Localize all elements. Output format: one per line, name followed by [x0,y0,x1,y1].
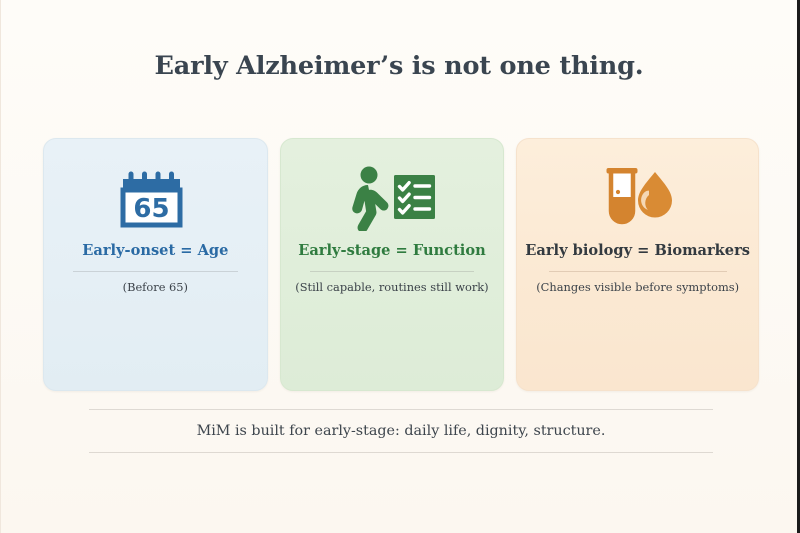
footer-banner: MiM is built for early-stage: daily life… [89,409,713,453]
card-divider [549,271,727,272]
card-early-onset[interactable]: 65 Early-onset = Age (Before 65) [43,138,268,391]
footer-rule-bottom [89,452,713,453]
card-early-stage[interactable]: Early-stage = Function (Still capable, r… [280,138,505,391]
concept-cards-row: 65 Early-onset = Age (Before 65) [43,138,759,391]
walking-person-checklist-icon [344,155,440,241]
card-subtext-early-onset: (Before 65) [116,281,195,295]
card-heading-early-biology: Early biology = Biomarkers [517,243,758,260]
card-heading-early-onset: Early-onset = Age [74,243,236,260]
calendar-year-text: 65 [134,194,170,224]
calendar-65-icon: 65 [118,155,192,241]
test-tube-droplet-icon [593,155,683,241]
card-subtext-early-stage: (Still capable, routines still work) [288,281,495,295]
card-subtext-early-biology: (Changes visible before symptoms) [529,281,746,295]
card-early-biology[interactable]: Early biology = Biomarkers (Changes visi… [516,138,759,391]
slide-canvas: Early Alzheimer’s is not one thing. [0,0,800,533]
card-divider [73,271,238,272]
page-title: Early Alzheimer’s is not one thing. [1,51,797,81]
card-heading-early-stage: Early-stage = Function [290,243,493,260]
card-divider [310,271,475,272]
footer-text: MiM is built for early-stage: daily life… [89,410,713,452]
